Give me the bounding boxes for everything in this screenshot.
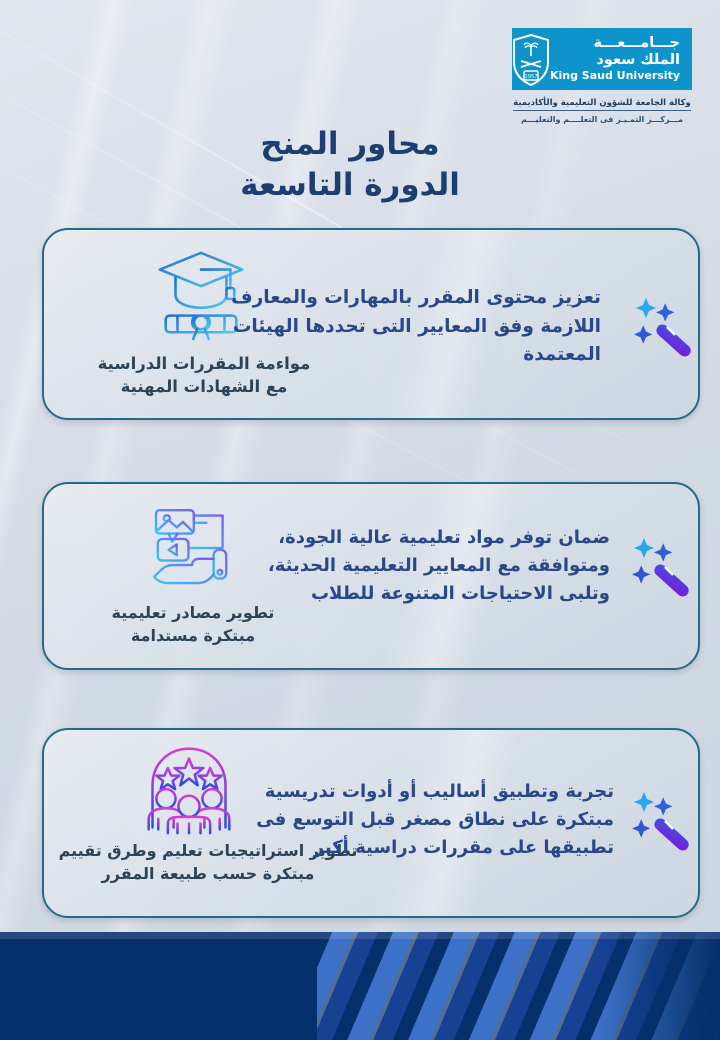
card-3-body: تجربة وتطبيق أساليب أو أدوات تدريسية مبت… xyxy=(222,778,614,862)
poster-title: محاور المنح الدورة التاسعة xyxy=(0,124,700,206)
magic-wand-sparkles-icon xyxy=(634,286,700,358)
axis-card-3[interactable]: تطوير استراتيجيات تعليم وطرق تقييم مبتكر… xyxy=(42,728,700,918)
ksu-logo: جـــامـــعـــة الملك سعود King Saud Univ… xyxy=(512,28,692,124)
logo-subtitle-center: مـــركـــز التمـيـز فى التعلــــم والتعل… xyxy=(512,115,692,124)
footer-diagonal-stripes xyxy=(317,932,720,1040)
logo-arabic-line1: جـــامـــعـــة xyxy=(550,36,680,52)
logo-subtitle-agency: وكالة الجامعة للشؤون التعليمية والأكاديم… xyxy=(513,98,691,111)
axis-card-2[interactable]: تطوير مصادر تعليمية مبتكرة مستدامة ضمان … xyxy=(42,482,700,670)
logo-arabic-line2: الملك سعود xyxy=(550,52,680,68)
emblem-year: 1957 xyxy=(524,73,537,79)
poster-canvas: جـــامـــعـــة الملك سعود King Saud Univ… xyxy=(0,0,720,1040)
card-2-label: تطوير مصادر تعليمية مبتكرة مستدامة xyxy=(88,602,298,647)
title-line-2: الدورة التاسعة xyxy=(0,165,700,206)
card-1-body: تعزيز محتوى المقرر بالمهارات والمعارف ال… xyxy=(229,284,601,370)
logo-english-name: King Saud University xyxy=(550,69,680,83)
card-2-body: ضمان توفر مواد تعليمية عالية الجودة، ومت… xyxy=(220,524,610,608)
magic-wand-sparkles-icon xyxy=(632,526,700,598)
footer-band xyxy=(0,932,720,1040)
logo-box: جـــامـــعـــة الملك سعود King Saud Univ… xyxy=(512,28,692,90)
logo-wordmark: جـــامـــعـــة الملك سعود King Saud Univ… xyxy=(550,36,683,83)
footer-top-highlight xyxy=(0,932,720,939)
magic-wand-sparkles-icon xyxy=(632,780,700,852)
ksu-shield-icon: 1957 xyxy=(512,34,550,86)
axis-card-1[interactable]: مواءمة المقررات الدراسية مع الشهادات الم… xyxy=(42,228,700,420)
title-line-1: محاور المنح xyxy=(0,124,700,165)
